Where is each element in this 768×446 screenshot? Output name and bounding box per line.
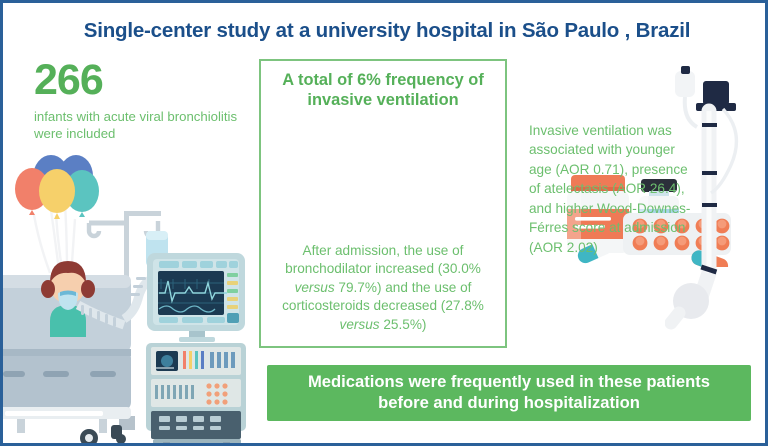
center-box-headline: A total of 6% frequency of invasive vent… (271, 71, 495, 110)
summary-banner-text: Medications were frequently used in thes… (267, 372, 751, 413)
child-in-hospital-bed-illustration (3, 153, 261, 446)
center-body-part3: 25.5%) (380, 317, 427, 332)
center-body-versus-1: versus (295, 280, 335, 295)
statistic-number: 266 (34, 59, 249, 102)
statistic-block: 266 infants with acute viral bronchiolit… (34, 59, 249, 143)
summary-banner: Medications were frequently used in thes… (267, 365, 751, 421)
center-body-versus-2: versus (340, 317, 380, 332)
statistic-caption: infants with acute viral bronchiolitis w… (34, 108, 249, 143)
center-box-body: After admission, the use of bronchodilat… (271, 242, 495, 334)
endotracheal-tube-illustration (665, 61, 761, 351)
infographic-root: Single-center study at a university hosp… (0, 0, 768, 446)
center-body-part1: After admission, the use of bronchodilat… (285, 243, 481, 276)
page-title: Single-center study at a university hosp… (3, 19, 768, 43)
center-highlight-box: A total of 6% frequency of invasive vent… (259, 59, 507, 348)
